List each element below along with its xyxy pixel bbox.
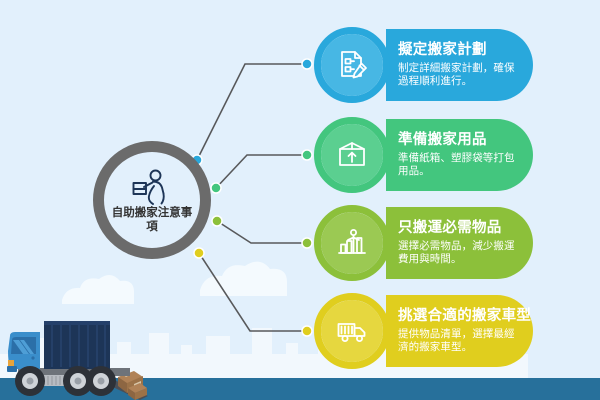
infographic-canvas: 自助搬家注意事項 擬定搬家計劃 制定詳細搬家計劃，確保過程順利進行。 — [0, 0, 600, 400]
step-card-4[interactable]: 挑選合適的搬家車型 提供物品清單，選擇最經濟的搬家車型。 — [314, 295, 533, 367]
hub-label: 自助搬家注意事項 — [108, 206, 196, 234]
step-card-3-title: 只搬運必需物品 — [398, 220, 519, 237]
moving-truck-icon — [335, 314, 369, 348]
step-card-4-title: 挑選合適的搬家車型 — [398, 308, 519, 325]
step-card-4-desc: 提供物品清單，選擇最經濟的搬家車型。 — [398, 328, 519, 355]
step-card-3-body: 只搬運必需物品 選擇必需物品，減少搬運費用與時間。 — [386, 207, 533, 279]
step-card-2-body: 準備搬家用品 準備紙箱、塑膠袋等打包用品。 — [386, 119, 533, 191]
step-card-1-desc: 制定詳細搬家計劃，確保過程順利進行。 — [398, 62, 519, 89]
step-card-1-body: 擬定搬家計劃 制定詳細搬家計劃，確保過程順利進行。 — [386, 29, 533, 101]
step-card-2[interactable]: 準備搬家用品 準備紙箱、塑膠袋等打包用品。 — [314, 119, 533, 191]
box-arrow-up-icon — [335, 138, 369, 172]
center-hub[interactable]: 自助搬家注意事項 — [93, 141, 211, 259]
step-card-4-body: 挑選合適的搬家車型 提供物品清單，選擇最經濟的搬家車型。 — [386, 295, 533, 367]
step-card-1-badge — [314, 27, 390, 103]
step-card-3[interactable]: 只搬運必需物品 選擇必需物品，減少搬運費用與時間。 — [314, 207, 533, 279]
bar-chart-person-icon — [335, 226, 369, 260]
document-pencil-icon — [335, 48, 369, 82]
step-card-1-title: 擬定搬家計劃 — [398, 42, 519, 59]
step-card-2-badge — [314, 117, 390, 193]
step-card-4-badge — [314, 293, 390, 369]
step-card-2-desc: 準備紙箱、塑膠袋等打包用品。 — [398, 152, 519, 179]
step-card-2-title: 準備搬家用品 — [398, 132, 519, 149]
step-card-3-desc: 選擇必需物品，減少搬運費用與時間。 — [398, 240, 519, 267]
step-card-1[interactable]: 擬定搬家計劃 制定詳細搬家計劃，確保過程順利進行。 — [314, 29, 533, 101]
person-pushing-box-icon — [131, 169, 173, 205]
step-card-3-badge — [314, 205, 390, 281]
